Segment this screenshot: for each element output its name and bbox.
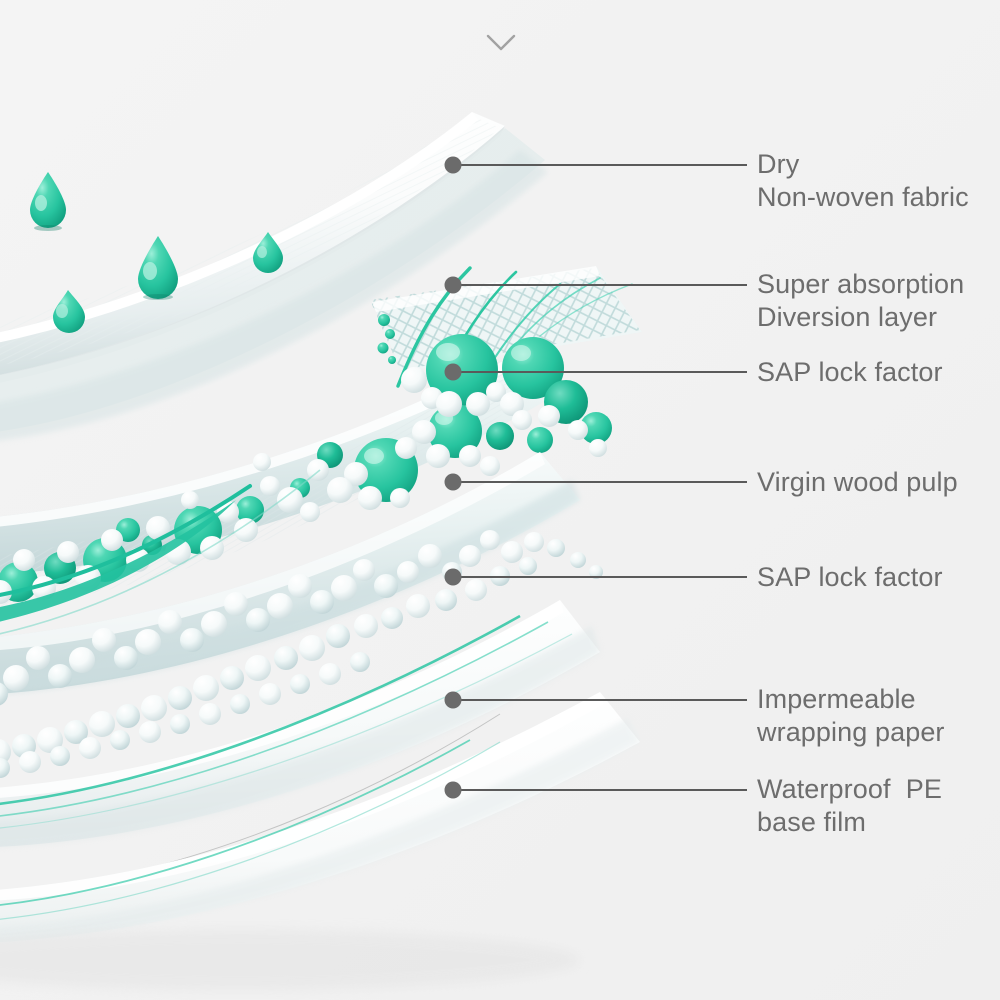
- callout-label-sap-lock-factor-top: SAP lock factor: [757, 356, 943, 389]
- layer-structure-diagram: DryNon-woven fabricSuper absorptionDiver…: [0, 0, 1000, 1000]
- leader-dot-sap-lock-factor-bottom[interactable]: [445, 569, 462, 586]
- leader-dot-virgin-wood-pulp[interactable]: [445, 474, 462, 491]
- callout-line1: Virgin wood pulp: [757, 467, 958, 497]
- callout-line1: Waterproof PE: [757, 774, 942, 804]
- callout-label-virgin-wood-pulp: Virgin wood pulp: [757, 466, 958, 499]
- callout-line1: Impermeable: [757, 684, 916, 714]
- callout-label-waterproof-pe-base-film: Waterproof PEbase film: [757, 773, 942, 839]
- leader-dot-dry-non-woven-fabric[interactable]: [445, 157, 462, 174]
- callout-line1: SAP lock factor: [757, 562, 943, 592]
- callout-line2: wrapping paper: [757, 716, 945, 749]
- callout-line2: Non-woven fabric: [757, 181, 969, 214]
- leader-dot-waterproof-pe-base-film[interactable]: [445, 782, 462, 799]
- callout-line2: Diversion layer: [757, 301, 964, 334]
- leader-dot-sap-lock-factor-top[interactable]: [445, 364, 462, 381]
- callout-label-impermeable-wrapping-paper: Impermeablewrapping paper: [757, 683, 945, 749]
- chevron-down-icon[interactable]: [484, 30, 518, 54]
- callout-line1: Super absorption: [757, 269, 964, 299]
- leader-dot-super-absorption-diversion-layer[interactable]: [445, 277, 462, 294]
- callout-line2: base film: [757, 806, 942, 839]
- callout-label-sap-lock-factor-bottom: SAP lock factor: [757, 561, 943, 594]
- leader-dot-impermeable-wrapping-paper[interactable]: [445, 692, 462, 709]
- callout-label-super-absorption-diversion-layer: Super absorptionDiversion layer: [757, 268, 964, 334]
- callout-line1: Dry: [757, 149, 799, 179]
- callout-line1: SAP lock factor: [757, 357, 943, 387]
- callout-label-dry-non-woven-fabric: DryNon-woven fabric: [757, 148, 969, 214]
